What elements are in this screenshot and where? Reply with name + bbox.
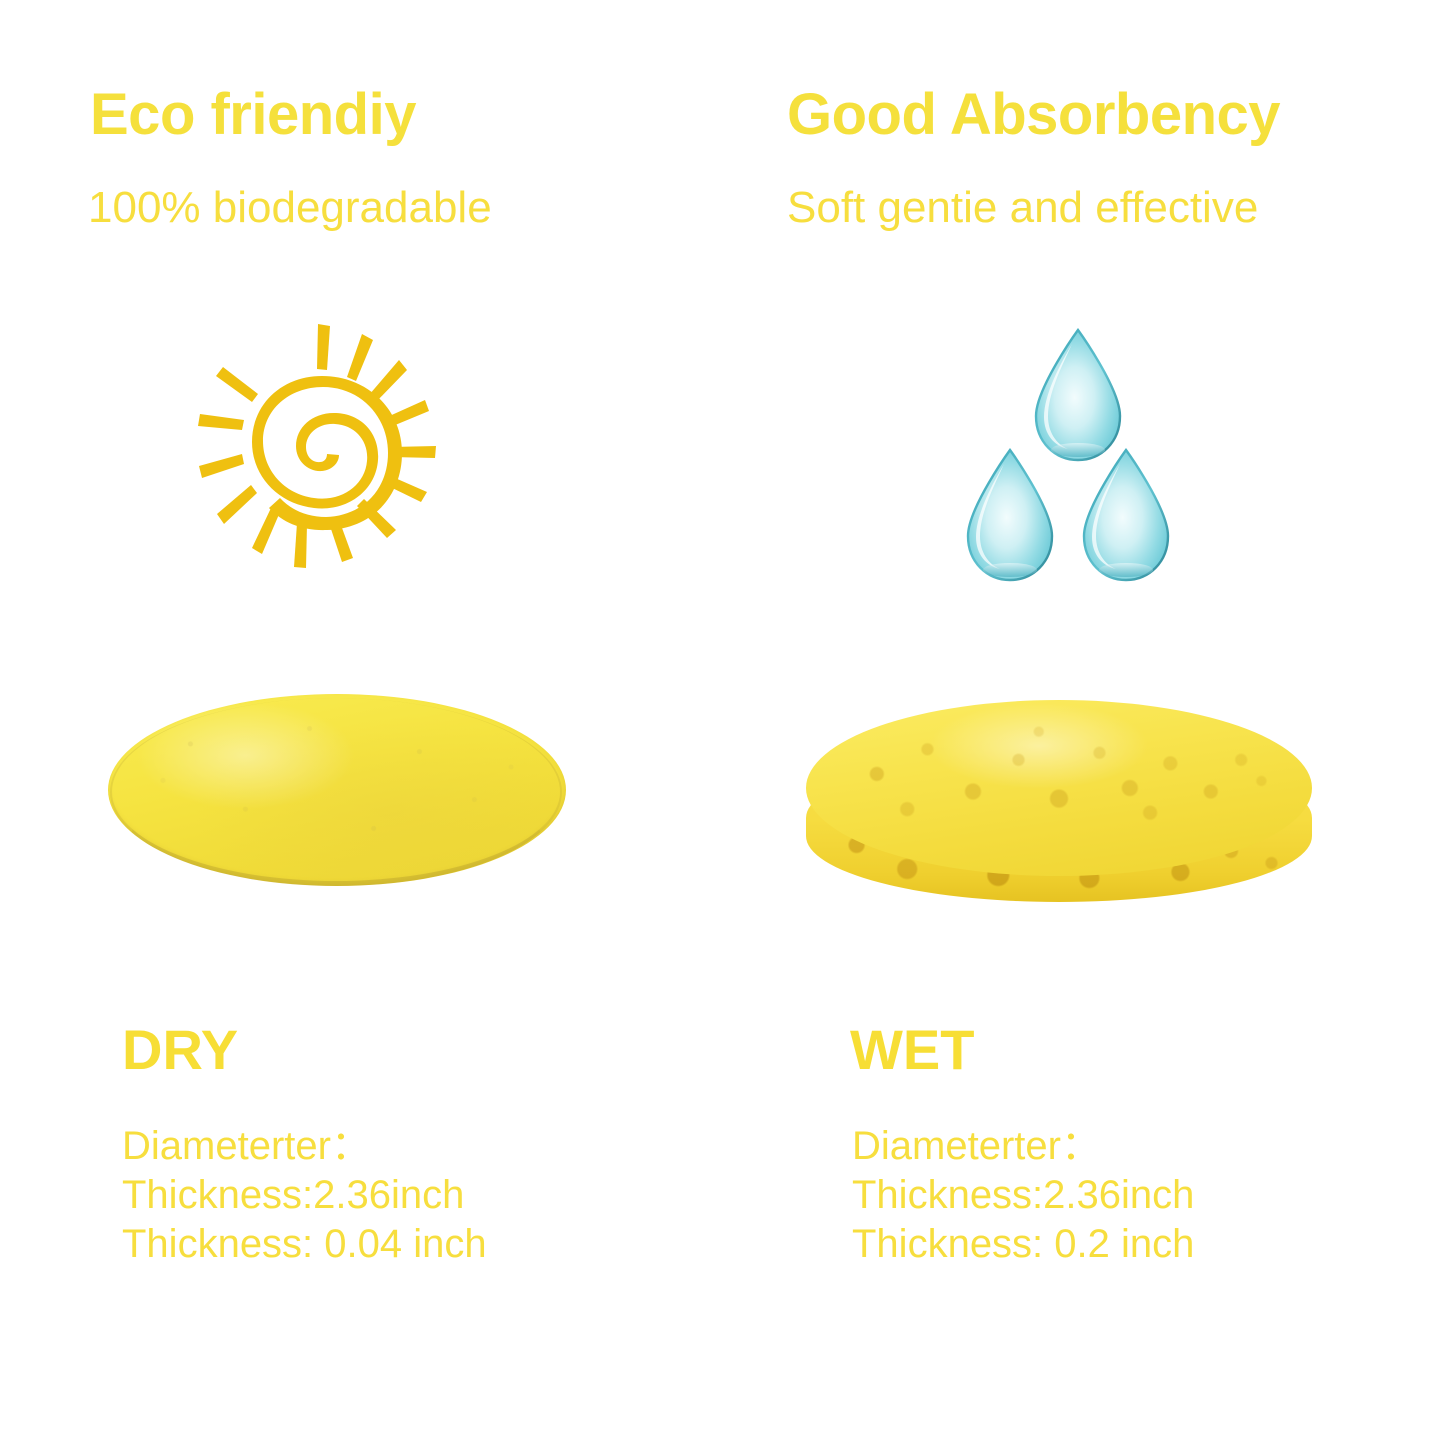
water-drop-left xyxy=(968,450,1052,580)
good-absorbency-subheading: Soft gentie and effective xyxy=(787,186,1258,230)
good-absorbency-heading: Good Absorbency xyxy=(787,86,1280,144)
dry-spec-list: Diameterter： Thickness:2.36inch Thicknes… xyxy=(122,1122,487,1268)
dry-state-label: DRY xyxy=(122,1022,238,1078)
eco-friendly-subheading: 100% biodegradable xyxy=(88,186,492,230)
sun-icon xyxy=(196,318,446,576)
product-infographic: Eco friendiy 100% biodegradable xyxy=(0,0,1445,1445)
eco-friendly-heading: Eco friendiy xyxy=(90,86,416,144)
dry-spec-thickness-2: Thickness: 0.04 inch xyxy=(122,1220,487,1269)
wet-sponge-surface xyxy=(806,700,1312,876)
dry-spec-diameter: Diameterter： xyxy=(122,1122,487,1171)
wet-spec-thickness-2: Thickness: 0.2 inch xyxy=(852,1220,1194,1269)
water-drop-icon xyxy=(960,322,1210,592)
dry-sponge-image xyxy=(108,688,568,893)
wet-sponge-image xyxy=(806,700,1316,915)
wet-spec-list: Diameterter： Thickness:2.36inch Thicknes… xyxy=(852,1122,1194,1268)
water-drop-top xyxy=(1036,330,1120,460)
dry-sponge-edge xyxy=(110,698,562,886)
wet-spec-thickness-1: Thickness:2.36inch xyxy=(852,1171,1194,1220)
water-drop-right xyxy=(1084,450,1168,580)
wet-spec-diameter: Diameterter： xyxy=(852,1122,1194,1171)
wet-state-label: WET xyxy=(850,1022,974,1078)
dry-spec-thickness-1: Thickness:2.36inch xyxy=(122,1171,487,1220)
